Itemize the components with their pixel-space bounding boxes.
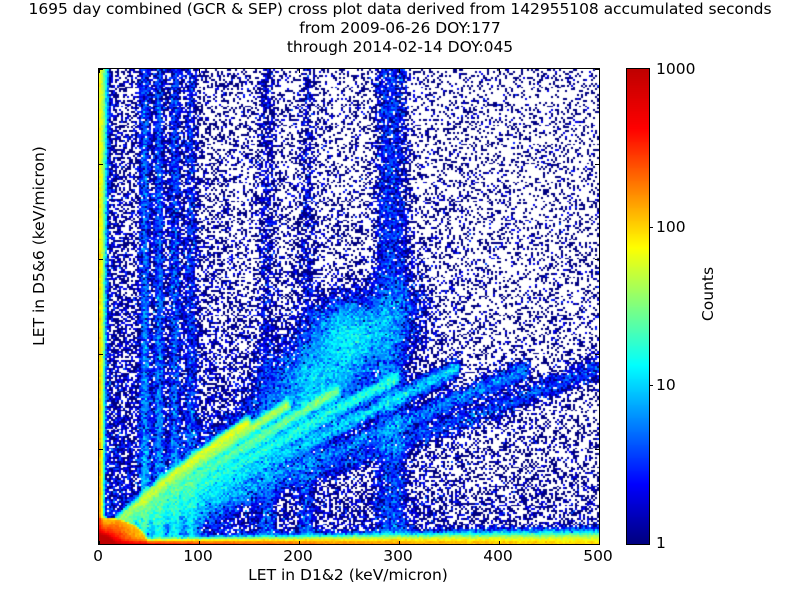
title-line-3: through 2014-02-14 DOY:045 [0,38,800,57]
plot-axes [98,68,600,545]
colorbar-tick [649,227,653,228]
x-tick-top [299,69,300,73]
x-tick-label: 400 [483,547,513,565]
density-heatmap [99,69,599,544]
x-tick-top [399,69,400,73]
y-tick-right [595,69,599,70]
x-tick-label: 300 [383,547,413,565]
colorbar-tick-label: 1000 [656,60,695,78]
x-tick-label: 100 [183,547,213,565]
x-tick-label: 500 [583,547,613,565]
x-tick-label: 200 [283,547,313,565]
colorbar-tick [649,385,653,386]
figure-canvas: 1695 day combined (GCR & SEP) cross plot… [0,0,800,600]
x-tick-top [199,69,200,73]
y-axis-label: LET in D5&6 (keV/micron) [30,46,48,446]
x-tick-top [499,69,500,73]
x-tick-top [599,69,600,73]
y-tick [99,354,103,355]
colorbar-tick-label: 100 [656,218,686,236]
y-tick-right [595,164,599,165]
y-tick [99,259,103,260]
colorbar-tick-label: 1 [656,534,666,552]
x-tick [499,541,500,545]
y-tick-right [595,449,599,450]
title-line-1: 1695 day combined (GCR & SEP) cross plot… [0,0,800,19]
colorbar-label: Counts [699,184,717,404]
x-tick [399,541,400,545]
y-tick [99,69,103,70]
y-tick [99,544,103,545]
colorbar-gradient [627,69,649,544]
y-tick [99,449,103,450]
title-line-2: from 2009-06-26 DOY:177 [0,19,800,38]
y-tick [99,164,103,165]
y-tick-right [595,544,599,545]
y-tick-right [595,259,599,260]
x-tick [299,541,300,545]
plot-title: 1695 day combined (GCR & SEP) cross plot… [0,0,800,57]
x-tick-label: 0 [93,547,103,565]
y-tick-right [595,354,599,355]
x-tick [599,541,600,545]
colorbar-tick-label: 10 [656,376,676,394]
x-axis-label: LET in D1&2 (keV/micron) [98,566,598,584]
colorbar: 1101001000 [626,68,650,545]
x-tick [199,541,200,545]
